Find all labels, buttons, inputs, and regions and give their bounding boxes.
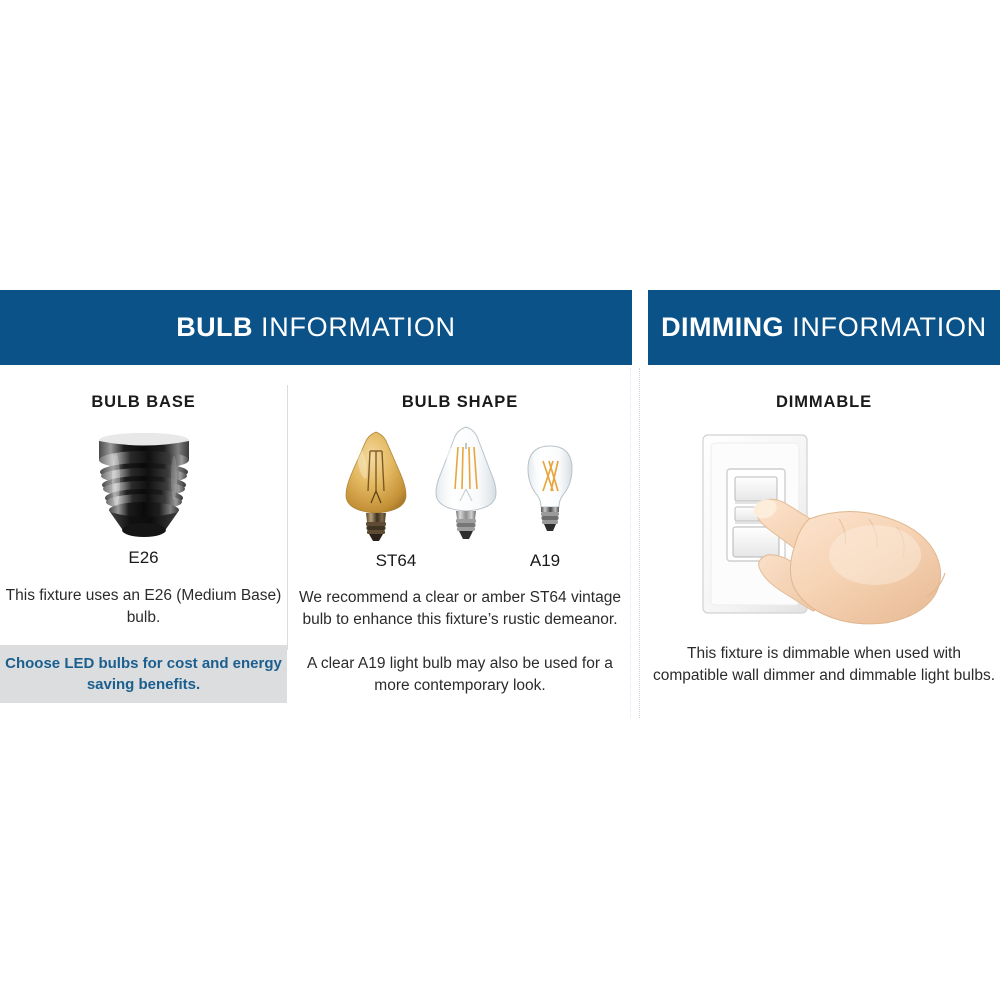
banner-gap (632, 290, 648, 365)
st64-clear-bulb-icon (430, 423, 502, 547)
dimmer-switch-image (648, 422, 1000, 637)
bulb-base-heading: BULB BASE (0, 393, 287, 412)
e26-base-image (0, 426, 287, 546)
wall-dimmer-with-hand-icon (689, 427, 959, 632)
a19-label: A19 (485, 551, 605, 571)
dimmable-heading: DIMMABLE (648, 393, 1000, 412)
bulb-information-title-bold: BULB (176, 312, 253, 342)
dimming-information-banner: DIMMING INFORMATION (648, 290, 1000, 365)
dimming-information-title-light: INFORMATION (792, 312, 987, 342)
dimming-information-title: DIMMING INFORMATION (661, 312, 987, 343)
st64-label: ST64 (321, 551, 471, 571)
led-callout-text: Choose LED bulbs for cost and energy sav… (0, 653, 287, 695)
st64-amber-bulb-icon (340, 429, 412, 547)
bulb-shape-labels: ST64 A19 (288, 551, 632, 571)
bulb-shape-paragraph-2: A clear A19 light bulb may also be used … (288, 653, 632, 697)
dimmable-column: DIMMABLE (648, 365, 1000, 687)
bulb-shape-heading: BULB SHAPE (288, 393, 632, 412)
bulb-shape-column: BULB SHAPE (288, 365, 632, 697)
banner-row: BULB INFORMATION DIMMING INFORMATION (0, 290, 1000, 365)
dimmable-description: This fixture is dimmable when used with … (648, 643, 1000, 687)
bulb-base-description: This fixture uses an E26 (Medium Base) b… (0, 585, 287, 629)
bulb-shape-images (288, 422, 632, 547)
bulb-base-column: BULB BASE (0, 365, 287, 629)
panel-divider-inner (639, 368, 640, 718)
led-callout-box: Choose LED bulbs for cost and energy sav… (0, 645, 287, 703)
bulb-shape-paragraph-1: We recommend a clear or amber ST64 vinta… (288, 587, 632, 631)
e26-label: E26 (0, 548, 287, 568)
a19-clear-bulb-icon (520, 443, 580, 547)
bulb-information-title: BULB INFORMATION (176, 312, 455, 343)
dimming-information-title-bold: DIMMING (661, 312, 784, 342)
e26-screw-base-icon (86, 430, 202, 542)
bulb-information-banner: BULB INFORMATION (0, 290, 632, 365)
bulb-information-title-light: INFORMATION (261, 312, 456, 342)
